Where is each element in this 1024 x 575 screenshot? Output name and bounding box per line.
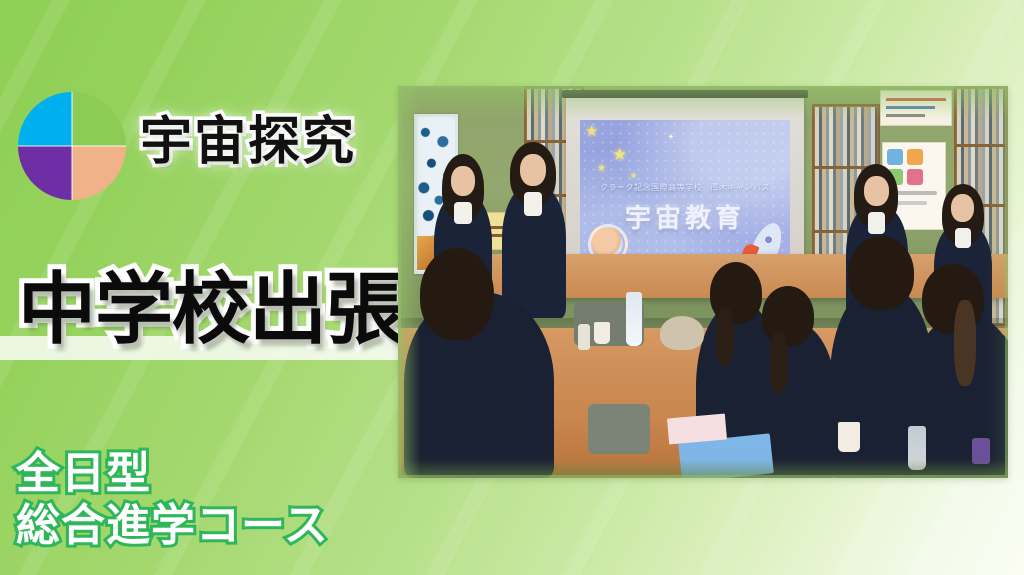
- star-icon: ✦: [668, 134, 674, 141]
- desk-paper: [667, 414, 727, 445]
- desk-pouch: [588, 404, 650, 454]
- subtitle-text: 宇宙探究: [140, 116, 356, 168]
- desk-paper-cup: [594, 322, 610, 344]
- star-icon: ★: [612, 146, 627, 163]
- logo-quadrant-bottom-left: [18, 146, 72, 200]
- desk-purple-bottle: [972, 438, 990, 464]
- desk-water-bottle: [626, 292, 642, 346]
- poster-canvas: 宇宙探究 中学校出張授業 全日型 総合進学コース: [0, 0, 1024, 575]
- desk-small-bottle: [578, 324, 590, 350]
- projector-screen-top-bar: [562, 90, 808, 98]
- logo-quadrant-bottom-right: [72, 146, 126, 200]
- logo-quadrant-top-right: [72, 92, 126, 146]
- course-label-line2: 総合進学コース: [16, 500, 329, 552]
- classroom-photo: ★ ★ ★ ★ ✦ クラーク記念国際高等学校 厚木キャンパス 宇宙教育: [398, 86, 1008, 478]
- star-icon: ★: [630, 172, 637, 180]
- four-quadrant-circle-logo: [18, 92, 126, 200]
- presentation-slide: ★ ★ ★ ★ ✦ クラーク記念国際高等学校 厚木キャンパス 宇宙教育: [580, 120, 790, 270]
- star-icon: ★: [585, 124, 598, 139]
- slide-school-line: クラーク記念国際高等学校 厚木キャンパス: [580, 182, 790, 193]
- photo-wall-poster-top-right: [880, 90, 952, 126]
- desk-clear-bottle: [908, 426, 926, 470]
- desk-paper-cup: [838, 422, 860, 452]
- desk-plush-toy: [660, 316, 704, 350]
- course-label: 全日型 総合進学コース: [16, 448, 329, 552]
- star-icon: ★: [597, 164, 606, 174]
- logo-quadrant-top-left: [18, 92, 72, 146]
- course-label-line1: 全日型: [16, 448, 329, 500]
